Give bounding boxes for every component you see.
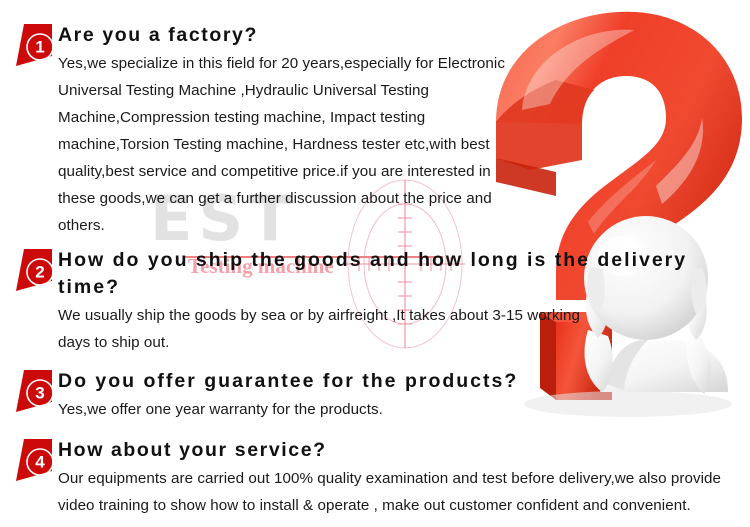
faq-item: 3 Do you offer guarantee for the product… bbox=[0, 368, 750, 423]
faq-question: How about your service? bbox=[58, 437, 750, 464]
badge-number: 2 bbox=[35, 263, 44, 282]
faq-question: Do you offer guarantee for the products? bbox=[58, 368, 750, 395]
number-badge-icon: 1 bbox=[10, 22, 58, 70]
number-badge-icon: 2 bbox=[10, 247, 58, 295]
faq-item: 1 Are you a factory? Yes,we specialize i… bbox=[0, 22, 750, 239]
number-badge-icon: 3 bbox=[10, 368, 58, 416]
faq-question: How do you ship the goods and how long i… bbox=[58, 247, 750, 301]
faq-answer: We usually ship the goods by sea or by a… bbox=[58, 302, 583, 356]
faq-question: Are you a factory? bbox=[58, 22, 750, 49]
faq-list: 1 Are you a factory? Yes,we specialize i… bbox=[0, 0, 750, 519]
faq-item: 4 How about your service? Our equipments… bbox=[0, 437, 750, 519]
badge-number: 1 bbox=[35, 38, 44, 57]
faq-answer: Yes,we offer one year warranty for the p… bbox=[58, 396, 528, 423]
faq-banner-page: EST Testing machine bbox=[0, 0, 750, 527]
faq-item: 2 How do you ship the goods and how long… bbox=[0, 247, 750, 356]
faq-answer: Yes,we specialize in this field for 20 y… bbox=[58, 50, 508, 239]
number-badge-icon: 4 bbox=[10, 437, 58, 485]
badge-number: 3 bbox=[35, 384, 44, 403]
badge-number: 4 bbox=[35, 453, 45, 472]
faq-answer: Our equipments are carried out 100% qual… bbox=[58, 465, 748, 519]
